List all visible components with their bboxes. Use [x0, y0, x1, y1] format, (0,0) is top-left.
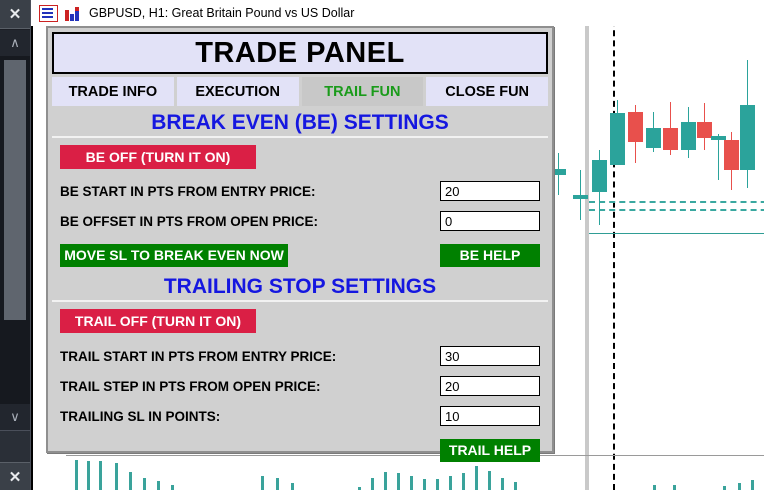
volume-bar — [462, 473, 465, 490]
volume-bar — [673, 485, 676, 490]
price-level-dashed-2 — [589, 209, 764, 211]
vertical-time-separator — [613, 0, 615, 490]
volume-bar — [751, 480, 754, 490]
break-even-heading-text: BREAK EVEN (BE) SETTINGS — [151, 111, 449, 135]
volume-bar — [276, 478, 279, 490]
candle — [681, 107, 696, 158]
candle-body — [681, 122, 696, 150]
volume-bar — [143, 478, 146, 490]
volume-bar — [653, 485, 656, 490]
break-even-heading: BREAK EVEN (BE) SETTINGS — [52, 110, 548, 138]
trade-panel: TRADE PANEL TRADE INFO EXECUTION TRAIL F… — [46, 26, 554, 453]
trailing-sl-label: TRAILING SL IN POINTS: — [60, 409, 220, 424]
candle — [573, 170, 588, 220]
trailing-stop-body: TRAIL OFF (TURN IT ON) TRAIL START IN PT… — [48, 302, 552, 463]
price-level-solid — [589, 233, 764, 234]
candle-body — [646, 128, 661, 148]
left-scroll-strip: ✕ ∧ ∨ ✕ — [0, 0, 31, 490]
be-offset-input[interactable]: 0 — [440, 211, 540, 231]
volume-bar — [157, 481, 160, 490]
candle — [663, 102, 678, 155]
volume-bar — [423, 479, 426, 490]
volume-bar — [514, 482, 517, 490]
scroll-down-icon[interactable]: ∨ — [0, 404, 30, 430]
scrollbar-thumb[interactable] — [4, 60, 26, 320]
volume-bar — [410, 476, 413, 490]
volume-bar — [501, 478, 504, 490]
trail-action-row: TRAIL HELP — [60, 437, 540, 463]
trail-step-row: TRAIL STEP IN PTS FROM OPEN PRICE: 20 — [60, 371, 540, 401]
bar-chart-icon — [65, 6, 82, 21]
volume-bar — [261, 476, 264, 490]
candle-body — [573, 195, 588, 199]
trailing-sl-row: TRAILING SL IN POINTS: 10 — [60, 401, 540, 431]
trail-step-input[interactable]: 20 — [440, 376, 540, 396]
volume-bar — [171, 485, 174, 490]
volume-bar — [488, 471, 491, 490]
trail-help-button[interactable]: TRAIL HELP — [440, 439, 540, 462]
candle-body — [610, 113, 625, 165]
volume-bar — [291, 483, 294, 490]
be-help-button[interactable]: BE HELP — [440, 244, 540, 267]
chart-titlebar: GBPUSD, H1: Great Britain Pound vs US Do… — [31, 0, 764, 26]
volume-bar — [75, 460, 78, 490]
panel-title-text: TRADE PANEL — [195, 37, 405, 70]
candle — [628, 105, 643, 163]
volume-bar — [87, 461, 90, 490]
volume-bar — [738, 483, 741, 490]
price-level-dashed-1 — [589, 201, 764, 203]
candle — [724, 132, 739, 190]
close-icon-top[interactable]: ✕ — [0, 0, 30, 29]
be-offset-label: BE OFFSET IN PTS FROM OPEN PRICE: — [60, 214, 318, 229]
tab-trade-info[interactable]: TRADE INFO — [52, 77, 174, 106]
volume-bar — [99, 461, 102, 490]
candle-body — [724, 140, 739, 170]
be-action-row: MOVE SL TO BREAK EVEN NOW BE HELP — [60, 242, 540, 268]
candle-body — [663, 128, 678, 150]
trailing-stop-heading: TRAILING STOP SETTINGS — [52, 274, 548, 302]
candle-body — [697, 122, 712, 138]
volume-bar — [723, 486, 726, 490]
tab-close-fun[interactable]: CLOSE FUN — [426, 77, 548, 106]
tab-trail-fun[interactable]: TRAIL FUN — [302, 77, 424, 106]
be-offset-row: BE OFFSET IN PTS FROM OPEN PRICE: 0 — [60, 206, 540, 236]
be-start-label: BE START IN PTS FROM ENTRY PRICE: — [60, 184, 316, 199]
trail-start-row: TRAIL START IN PTS FROM ENTRY PRICE: 30 — [60, 341, 540, 371]
candle-body — [592, 160, 607, 192]
trail-toggle-button[interactable]: TRAIL OFF (TURN IT ON) — [60, 309, 256, 333]
screen-root: ✕ ∧ ∨ ✕ GBPUSD, H1: G — [0, 0, 764, 490]
break-even-body: BE OFF (TURN IT ON) BE START IN PTS FROM… — [48, 138, 552, 268]
volume-bar — [397, 473, 400, 490]
trailing-sl-input[interactable]: 10 — [440, 406, 540, 426]
close-icon-bottom[interactable]: ✕ — [0, 462, 30, 490]
candle-wick — [718, 134, 719, 180]
trail-start-label: TRAIL START IN PTS FROM ENTRY PRICE: — [60, 349, 336, 364]
volume-bar — [384, 472, 387, 490]
be-toggle-button[interactable]: BE OFF (TURN IT ON) — [60, 145, 256, 169]
strip-divider — [0, 430, 30, 463]
candle — [740, 60, 755, 188]
candle — [646, 112, 661, 152]
candle-body — [628, 112, 643, 142]
trail-start-input[interactable]: 30 — [440, 346, 540, 366]
panel-title: TRADE PANEL — [52, 32, 548, 74]
volume-bar — [436, 479, 439, 490]
candle — [697, 103, 712, 150]
scroll-up-icon[interactable]: ∧ — [0, 30, 30, 56]
candle-body — [740, 105, 755, 170]
be-start-row: BE START IN PTS FROM ENTRY PRICE: 20 — [60, 176, 540, 206]
chart-left-gutter — [585, 0, 589, 490]
candle — [610, 100, 625, 148]
lines-icon — [39, 5, 58, 22]
volume-bar — [129, 472, 132, 490]
be-start-input[interactable]: 20 — [440, 181, 540, 201]
volume-bar — [475, 466, 478, 490]
candle — [592, 150, 607, 225]
trail-step-label: TRAIL STEP IN PTS FROM OPEN PRICE: — [60, 379, 321, 394]
volume-bar — [371, 478, 374, 490]
tab-bar: TRADE INFO EXECUTION TRAIL FUN CLOSE FUN — [52, 77, 548, 106]
tab-execution[interactable]: EXECUTION — [177, 77, 299, 106]
chart-symbol-title: GBPUSD, H1: Great Britain Pound vs US Do… — [89, 6, 354, 20]
volume-bar — [115, 463, 118, 490]
trailing-stop-heading-text: TRAILING STOP SETTINGS — [164, 275, 436, 299]
move-sl-to-be-button[interactable]: MOVE SL TO BREAK EVEN NOW — [60, 244, 288, 267]
volume-bar — [449, 476, 452, 490]
